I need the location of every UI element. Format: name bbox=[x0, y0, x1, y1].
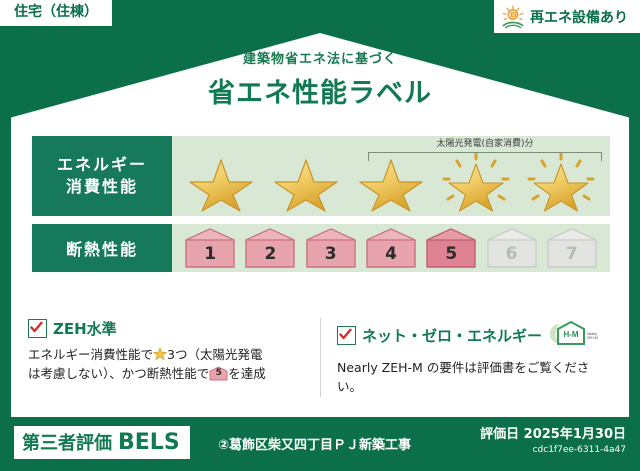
net-zero-heading: ネット・ゼロ・エネルギー H-M Nearly ZEH-M bbox=[337, 318, 602, 352]
solar-sun-icon bbox=[500, 4, 526, 30]
bels-en-label: BELS bbox=[118, 430, 180, 455]
insulation-level-1-value: 1 bbox=[184, 244, 236, 264]
evaluation-info: 評価日 2025年1月30日 cdc1f7ee-6311-4a47 bbox=[480, 423, 626, 455]
inline-star-icon bbox=[153, 347, 167, 361]
zeh-standard-column: ZEH水準 エネルギー消費性能で3つ（太陽光発電は考慮しない）、かつ断熱性能で5… bbox=[28, 318, 320, 397]
renewable-equipment-badge: 再エネ設備あり bbox=[494, 0, 640, 33]
insulation-label-text: 断熱性能 bbox=[66, 236, 138, 260]
zeh-standard-heading: ZEH水準 bbox=[28, 318, 308, 339]
evaluation-id: cdc1f7ee-6311-4a47 bbox=[480, 445, 626, 455]
ratings-block: エネルギー 消費性能 太陽光発電(自家消費)分 bbox=[32, 136, 610, 280]
insulation-level-3-value: 3 bbox=[305, 244, 357, 264]
label-subtitle: 建築物省エネ法に基づく bbox=[0, 48, 640, 67]
zeh-text-part3: は考慮しない）、かつ断熱性能で bbox=[28, 366, 209, 381]
insulation-levels-area: 1 2 3 bbox=[172, 224, 610, 272]
zeh-text-part4: を達成 bbox=[228, 366, 266, 381]
zeh-m-logo: H-M Nearly ZEH-M bbox=[542, 318, 598, 352]
insulation-level-4: 4 bbox=[365, 227, 417, 269]
insulation-level-4-value: 4 bbox=[365, 244, 417, 264]
energy-label-line2: 消費性能 bbox=[66, 176, 138, 198]
evaluation-date: 評価日 2025年1月30日 bbox=[480, 423, 626, 442]
insulation-level-6: 6 bbox=[486, 227, 538, 269]
inline-house-icon: 5 bbox=[209, 366, 228, 381]
page-title: 省エネ性能ラベル bbox=[0, 71, 640, 110]
building-type-tag: 住宅（住棟） bbox=[0, 0, 112, 26]
svg-text:H-M: H-M bbox=[563, 330, 578, 339]
net-zero-energy-column: ネット・ゼロ・エネルギー H-M Nearly ZEH-M Nearly ZEH… bbox=[320, 318, 614, 397]
energy-performance-row: エネルギー 消費性能 太陽光発電(自家消費)分 bbox=[32, 136, 610, 216]
footer-bar: 第三者評価 BELS ②葛飾区柴又四丁目ＰＪ新築工事 評価日 2025年1月30… bbox=[0, 417, 640, 471]
solar-contribution-bracket: 太陽光発電(自家消費)分 bbox=[368, 140, 602, 161]
zeh-standard-title: ZEH水準 bbox=[53, 318, 117, 339]
insulation-level-7: 7 bbox=[546, 227, 598, 269]
evaluation-date-label: 評価日 bbox=[480, 427, 519, 442]
zeh-text-part2: 3つ（太陽光発電 bbox=[167, 347, 262, 362]
bels-jp-label: 第三者評価 bbox=[22, 429, 112, 455]
criteria-block: ZEH水準 エネルギー消費性能で3つ（太陽光発電は考慮しない）、かつ断熱性能で5… bbox=[28, 318, 614, 397]
zeh-text-part1: エネルギー消費性能で bbox=[28, 347, 153, 362]
net-zero-text: Nearly ZEH-M の要件は評価書をご覧ください。 bbox=[337, 358, 602, 397]
insulation-level-6-value: 6 bbox=[486, 244, 538, 264]
bels-badge: 第三者評価 BELS bbox=[14, 426, 190, 459]
insulation-level-scale: 1 2 3 bbox=[172, 224, 610, 272]
insulation-level-5-value: 5 bbox=[425, 244, 477, 264]
insulation-label-cell: 断熱性能 bbox=[32, 224, 172, 272]
energy-stars-area: 太陽光発電(自家消費)分 bbox=[172, 136, 610, 216]
energy-label-line1: エネルギー bbox=[57, 154, 147, 176]
insulation-level-2: 2 bbox=[244, 227, 296, 269]
zeh-standard-text: エネルギー消費性能で3つ（太陽光発電は考慮しない）、かつ断熱性能で5を達成 bbox=[28, 345, 308, 384]
check-icon bbox=[337, 326, 356, 345]
title-block: 建築物省エネ法に基づく 省エネ性能ラベル bbox=[0, 48, 640, 110]
insulation-level-1: 1 bbox=[184, 227, 236, 269]
insulation-performance-row: 断熱性能 1 2 bbox=[32, 224, 610, 272]
check-icon bbox=[28, 319, 47, 338]
insulation-level-5-achieved: 5 bbox=[425, 227, 477, 269]
insulation-level-2-value: 2 bbox=[244, 244, 296, 264]
inline-house-value: 5 bbox=[209, 367, 228, 381]
evaluation-date-value: 2025年1月30日 bbox=[524, 427, 626, 442]
net-zero-title: ネット・ゼロ・エネルギー bbox=[362, 325, 542, 346]
insulation-level-3: 3 bbox=[305, 227, 357, 269]
bracket-line bbox=[368, 152, 602, 161]
star-icon-1 bbox=[186, 151, 256, 213]
energy-performance-label-cell: エネルギー 消費性能 bbox=[32, 136, 172, 216]
renewable-badge-label: 再エネ設備あり bbox=[530, 7, 628, 27]
energy-performance-label: 住宅（住棟） 再エネ設備あり bbox=[0, 0, 640, 471]
solar-bracket-caption: 太陽光発電(自家消費)分 bbox=[368, 140, 602, 150]
svg-text:ZEH-M: ZEH-M bbox=[587, 336, 598, 340]
star-icon-2 bbox=[271, 151, 341, 213]
insulation-level-7-value: 7 bbox=[546, 244, 598, 264]
building-name: ②葛飾区柴又四丁目ＰＪ新築工事 bbox=[218, 434, 411, 453]
